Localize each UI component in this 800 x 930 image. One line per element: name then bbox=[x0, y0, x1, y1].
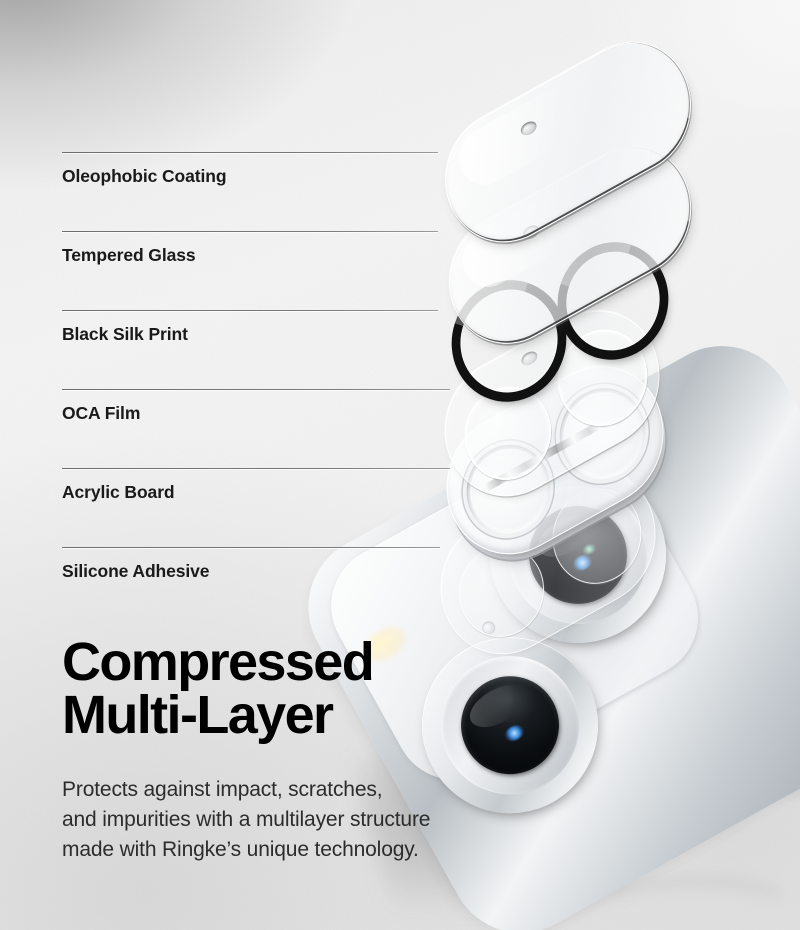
description-paragraph: Protects against impact, scratches, and … bbox=[62, 775, 430, 864]
leader-line bbox=[62, 547, 440, 548]
layer-label-text: Oleophobic Coating bbox=[62, 166, 226, 187]
leader-line bbox=[62, 468, 450, 469]
layer-label-text: OCA Film bbox=[62, 403, 140, 424]
layer-label-column: Oleophobic Coating Tempered Glass Black … bbox=[0, 0, 470, 620]
layer-label-text: Silicone Adhesive bbox=[62, 561, 209, 582]
headline: Compressed Multi-Layer bbox=[62, 636, 373, 742]
leader-line bbox=[62, 231, 438, 232]
infographic-canvas: Oleophobic Coating Tempered Glass Black … bbox=[0, 0, 800, 930]
leader-line bbox=[62, 152, 438, 153]
leader-line bbox=[62, 310, 438, 311]
flash-hole bbox=[519, 119, 539, 138]
layer-label-text: Tempered Glass bbox=[62, 245, 195, 266]
leader-line bbox=[62, 389, 450, 390]
layer-label-text: Acrylic Board bbox=[62, 482, 175, 503]
layer-label-text: Black Silk Print bbox=[62, 324, 188, 345]
